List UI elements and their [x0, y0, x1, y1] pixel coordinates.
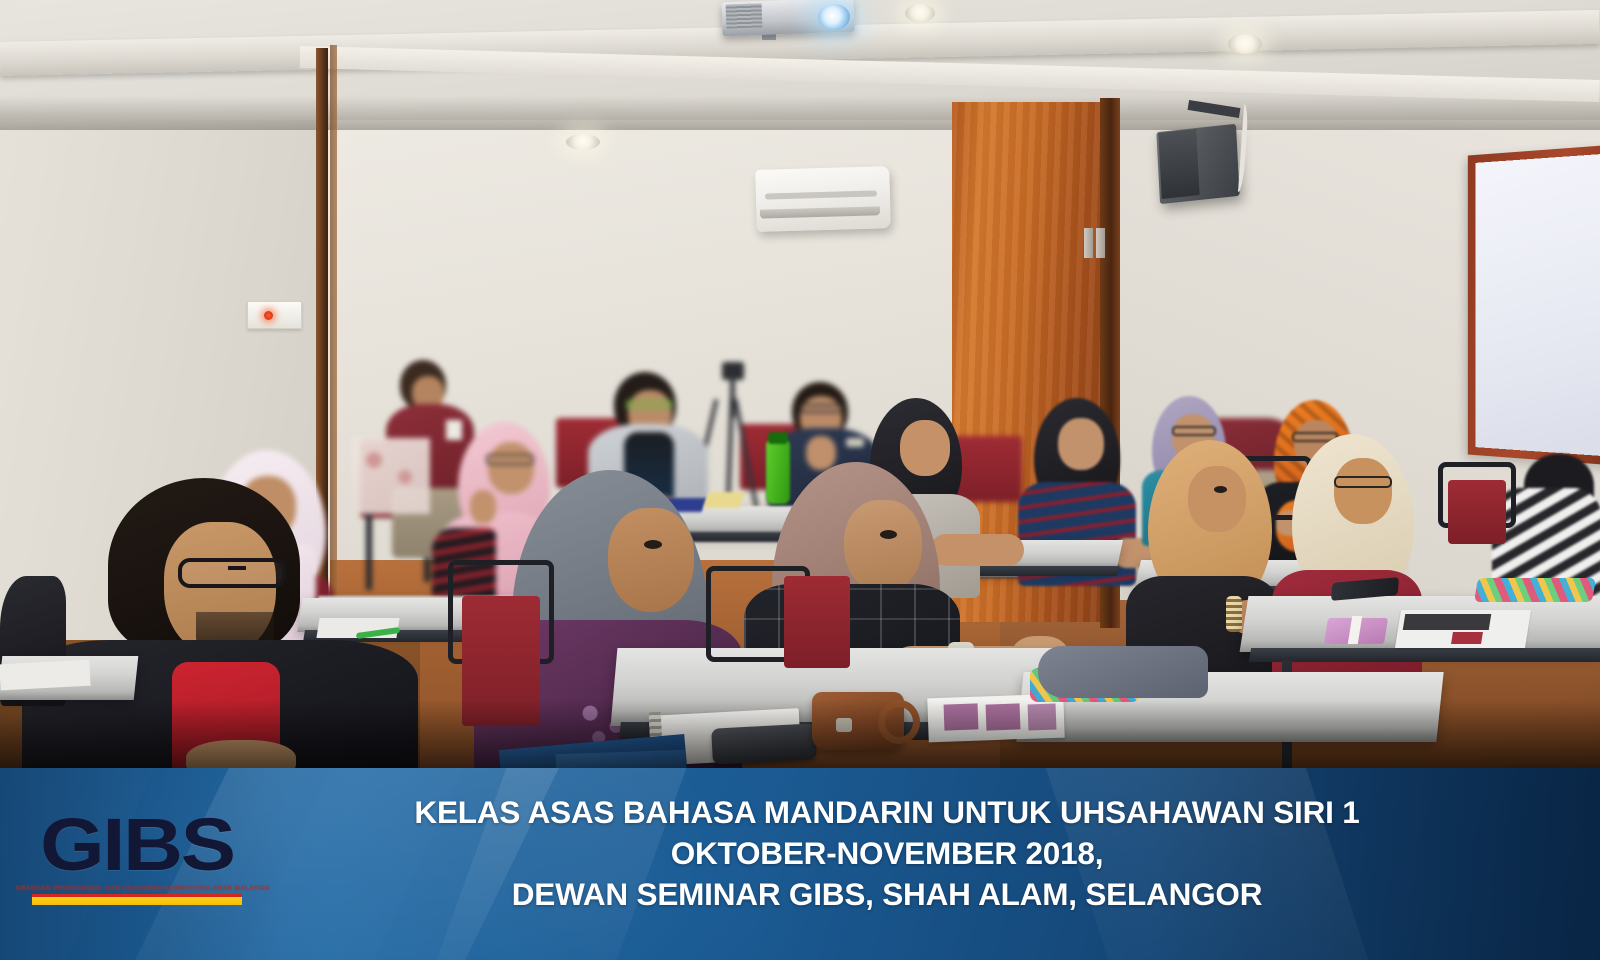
gibs-tagline: GRADUAN PROFESIONAL DAN USAHAWAN BUMIPUT… — [16, 885, 259, 892]
caption-line-2: OKTOBER-NOVEMBER 2018, — [262, 833, 1512, 874]
photo-vignette — [0, 0, 1600, 768]
gibs-logo: GIBS GRADUAN PROFESIONAL DAN USAHAWAN BU… — [18, 806, 256, 910]
photo-bottom-shadow — [0, 700, 1600, 768]
caption-text: KELAS ASAS BAHASA MANDARIN UNTUK UHSAHAW… — [262, 792, 1512, 915]
caption-line-1: KELAS ASAS BAHASA MANDARIN UNTUK UHSAHAW… — [262, 792, 1512, 833]
caption-line-3: DEWAN SEMINAR GIBS, SHAH ALAM, SELANGOR — [262, 874, 1512, 915]
gibs-wordmark: GIBS — [4, 806, 271, 884]
gibs-rule-yellow — [32, 897, 242, 905]
screenshot-root: GIBS GRADUAN PROFESIONAL DAN USAHAWAN BU… — [0, 0, 1600, 960]
